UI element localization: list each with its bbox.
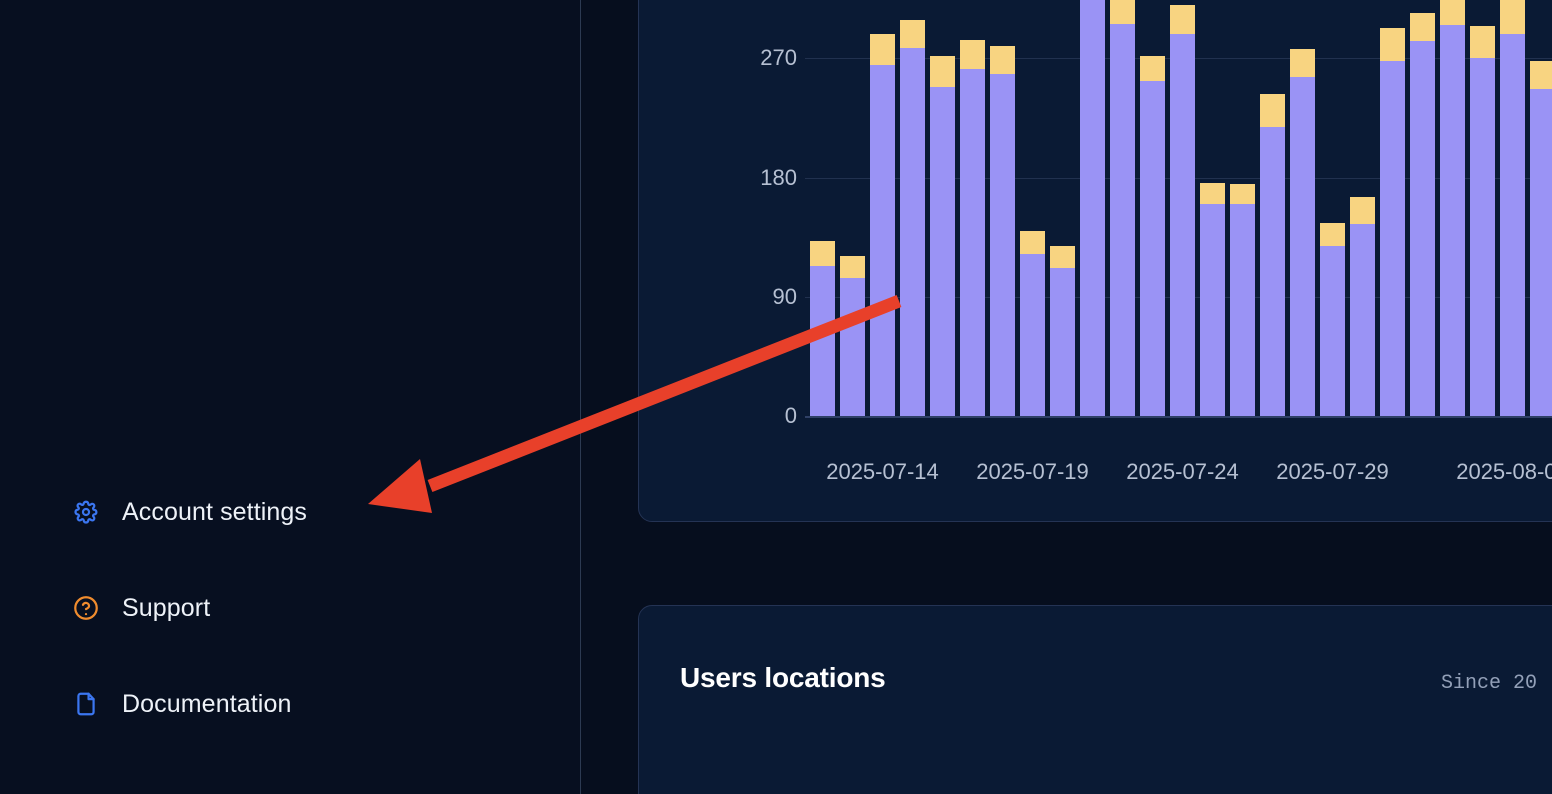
bar-segment-primary[interactable] (870, 65, 895, 416)
bar-segment-primary[interactable] (1230, 204, 1255, 416)
bar-segment-primary[interactable] (1470, 58, 1495, 416)
users-activity-chart-card: 0901802702025-07-142025-07-192025-07-242… (638, 0, 1552, 522)
bar-segment-secondary[interactable] (840, 256, 865, 279)
bar-segment-primary[interactable] (810, 266, 835, 416)
bar-segment-primary[interactable] (1500, 34, 1525, 416)
sidebar-item-documentation[interactable]: Documentation (72, 684, 291, 724)
bar-segment-primary[interactable] (1200, 204, 1225, 416)
bar-segment-secondary[interactable] (960, 40, 985, 69)
bar-segment-secondary[interactable] (1050, 246, 1075, 267)
bar-segment-primary[interactable] (930, 87, 955, 416)
bar-segment-primary[interactable] (990, 74, 1015, 416)
bar-segment-secondary[interactable] (1110, 0, 1135, 24)
app-root: Account settings Support Documentation (0, 0, 1552, 794)
x-axis-tick-label: 2025-07-19 (976, 459, 1089, 485)
bar-segment-secondary[interactable] (1350, 197, 1375, 224)
gear-icon (72, 498, 100, 526)
file-icon (72, 690, 100, 718)
since-label: Since 20 (1441, 672, 1537, 695)
bar-segment-secondary[interactable] (1020, 231, 1045, 255)
bar-segment-secondary[interactable] (1470, 26, 1495, 58)
bar-segment-secondary[interactable] (1260, 94, 1285, 127)
bar-segment-primary[interactable] (1380, 61, 1405, 416)
y-axis-tick-label: 0 (727, 403, 797, 429)
x-axis-line (805, 416, 1552, 418)
bar-segment-secondary[interactable] (1230, 184, 1255, 204)
y-axis-tick-label: 90 (727, 284, 797, 310)
bar-segment-secondary[interactable] (1440, 0, 1465, 25)
bar-segment-secondary[interactable] (1410, 13, 1435, 41)
bar-chart[interactable]: 0901802702025-07-142025-07-192025-07-242… (639, 0, 1552, 523)
bar-segment-secondary[interactable] (1530, 61, 1552, 89)
bar-segment-primary[interactable] (1080, 0, 1105, 416)
bar-segment-primary[interactable] (1530, 89, 1552, 416)
bar-segment-primary[interactable] (1140, 81, 1165, 416)
bar-segment-primary[interactable] (1320, 246, 1345, 416)
bar-segment-secondary[interactable] (1500, 0, 1525, 34)
page-title: Users locations (680, 662, 886, 694)
bar-segment-primary[interactable] (1020, 254, 1045, 416)
bar-segment-primary[interactable] (1260, 127, 1285, 416)
x-axis-tick-label: 2025-08-04 (1456, 459, 1552, 485)
bar-segment-primary[interactable] (840, 278, 865, 416)
bar-segment-primary[interactable] (1050, 268, 1075, 416)
users-locations-card: Users locations Since 20 (638, 605, 1552, 794)
sidebar-item-label: Documentation (122, 690, 291, 719)
help-circle-icon (72, 594, 100, 622)
y-axis-tick-label: 180 (727, 165, 797, 191)
sidebar-item-label: Account settings (122, 498, 307, 527)
sidebar-item-support[interactable]: Support (72, 588, 210, 628)
x-axis-tick-label: 2025-07-24 (1126, 459, 1239, 485)
bar-segment-secondary[interactable] (1290, 49, 1315, 77)
bar-segment-primary[interactable] (1440, 25, 1465, 416)
bar-segment-primary[interactable] (1410, 41, 1435, 416)
sidebar-item-account-settings[interactable]: Account settings (72, 492, 307, 532)
x-axis-tick-label: 2025-07-14 (826, 459, 939, 485)
bar-segment-primary[interactable] (1110, 24, 1135, 416)
bar-segment-secondary[interactable] (1200, 183, 1225, 204)
y-axis-tick-label: 270 (727, 45, 797, 71)
bar-segment-primary[interactable] (960, 69, 985, 416)
bar-segment-primary[interactable] (1290, 77, 1315, 416)
bar-segment-secondary[interactable] (1170, 5, 1195, 34)
bar-segment-secondary[interactable] (870, 34, 895, 64)
bar-segment-secondary[interactable] (990, 46, 1015, 74)
bar-segment-secondary[interactable] (1380, 28, 1405, 61)
bar-segment-secondary[interactable] (1320, 223, 1345, 247)
sidebar: Account settings Support Documentation (0, 0, 581, 794)
bar-segment-primary[interactable] (900, 48, 925, 416)
sidebar-item-label: Support (122, 594, 210, 623)
bar-segment-primary[interactable] (1350, 224, 1375, 416)
x-axis-tick-label: 2025-07-29 (1276, 459, 1389, 485)
bar-segment-secondary[interactable] (930, 56, 955, 88)
main-content: 0901802702025-07-142025-07-192025-07-242… (581, 0, 1552, 794)
bar-segment-secondary[interactable] (810, 241, 835, 266)
bar-segment-secondary[interactable] (900, 20, 925, 48)
bar-segment-secondary[interactable] (1140, 56, 1165, 81)
bar-segment-primary[interactable] (1170, 34, 1195, 416)
